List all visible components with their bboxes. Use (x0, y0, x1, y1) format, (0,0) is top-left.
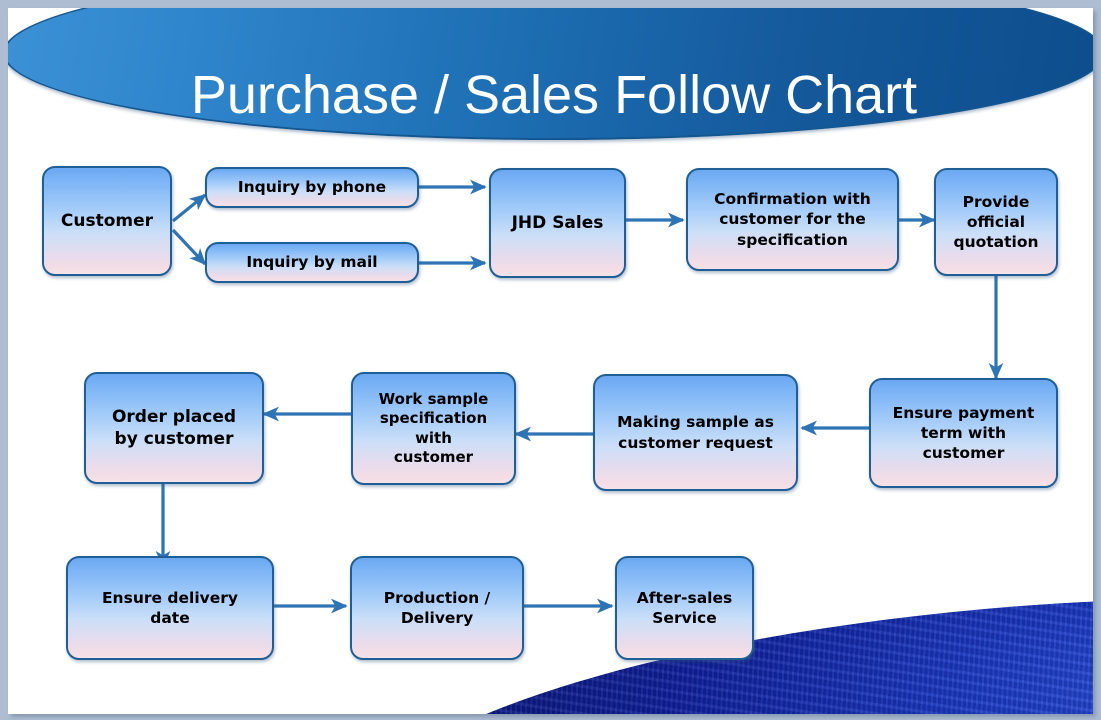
node-work-sample-specification[interactable]: Work sample specification with customer (351, 372, 516, 485)
node-after-sales-service-label: After-sales Service (637, 588, 732, 628)
node-order-placed[interactable]: Order placed by customer (84, 372, 264, 484)
node-making-sample-label: Making sample as customer request (617, 412, 774, 452)
node-ensure-payment-term[interactable]: Ensure payment term with customer (869, 378, 1058, 488)
slide-canvas: Purchase / Sales Follow Chart (0, 0, 1101, 720)
node-inquiry-by-phone-label: Inquiry by phone (238, 177, 386, 197)
edge-customer-to-inquiry-phone (173, 195, 205, 221)
node-work-sample-specification-label: Work sample specification with customer (379, 390, 489, 468)
node-order-placed-label: Order placed by customer (112, 406, 236, 450)
edge-customer-to-inquiry-mail (173, 230, 205, 264)
node-production-delivery-label: Production / Delivery (384, 588, 490, 628)
node-provide-quotation[interactable]: Provide official quotation (934, 168, 1058, 276)
node-ensure-delivery-date-label: Ensure delivery date (102, 588, 238, 628)
node-inquiry-by-mail[interactable]: Inquiry by mail (205, 242, 419, 283)
node-making-sample[interactable]: Making sample as customer request (593, 374, 798, 491)
node-confirmation[interactable]: Confirmation with customer for the speci… (686, 168, 899, 271)
node-confirmation-label: Confirmation with customer for the speci… (714, 189, 871, 249)
node-after-sales-service[interactable]: After-sales Service (615, 556, 754, 660)
node-jhd-sales-label: JHD Sales (512, 212, 604, 234)
node-inquiry-by-phone[interactable]: Inquiry by phone (205, 167, 419, 208)
node-ensure-payment-term-label: Ensure payment term with customer (893, 403, 1035, 463)
page-title: Purchase / Sales Follow Chart (8, 8, 1093, 138)
node-customer-label: Customer (61, 210, 153, 232)
node-production-delivery[interactable]: Production / Delivery (350, 556, 524, 660)
slide-page: Purchase / Sales Follow Chart (8, 8, 1093, 714)
title-banner: Purchase / Sales Follow Chart (8, 8, 1093, 140)
node-ensure-delivery-date[interactable]: Ensure delivery date (66, 556, 274, 660)
node-customer[interactable]: Customer (42, 166, 172, 276)
node-jhd-sales[interactable]: JHD Sales (489, 168, 626, 278)
node-provide-quotation-label: Provide official quotation (953, 192, 1038, 252)
node-inquiry-by-mail-label: Inquiry by mail (246, 252, 377, 272)
